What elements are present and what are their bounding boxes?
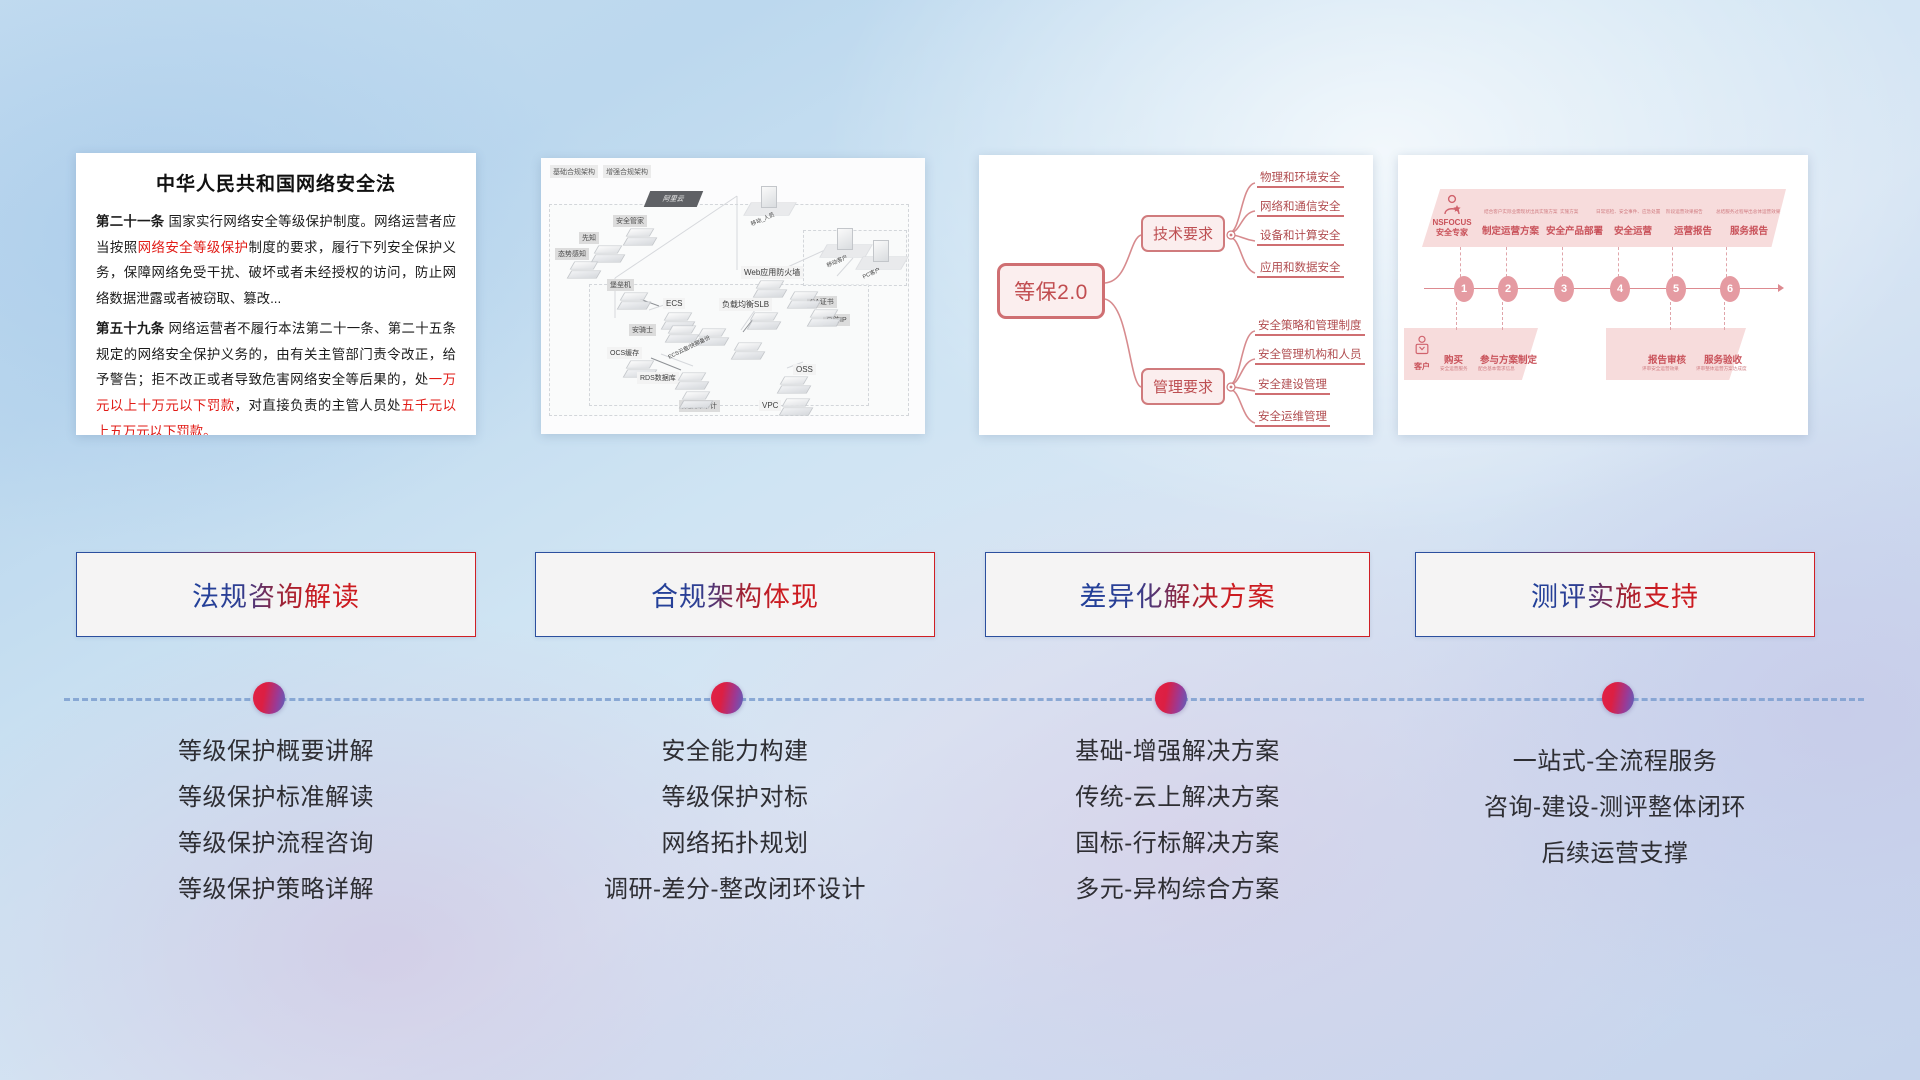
list-item: 国标-行标解决方案 [985,832,1370,856]
column-header-differentiated-solution[interactable]: 差异化解决方案 [985,552,1370,637]
list-item: 等级保护概要讲解 [76,740,476,764]
column-list-regulation-consulting: 等级保护概要讲解 等级保护标准解读 等级保护流程咨询 等级保护策略详解 [76,740,476,924]
column-header-title: 合规架构体现 [651,575,819,614]
list-item: 等级保护策略详解 [76,878,476,902]
column-header-assessment-support[interactable]: 测评实施支持 [1415,552,1815,637]
list-item: 后续运营支撑 [1415,842,1815,866]
list-item: 安全能力构建 [535,740,935,764]
column-header-regulation-consulting[interactable]: 法规咨询解读 [76,552,476,637]
timeline-dashed-line [64,698,1864,701]
list-item: 等级保护标准解读 [76,786,476,810]
timeline-marker-4[interactable] [1602,682,1634,714]
list-item: 等级保护对标 [535,786,935,810]
list-item: 一站式-全流程服务 [1415,750,1815,774]
timeline-marker-1[interactable] [253,682,285,714]
timeline-marker-2[interactable] [711,682,743,714]
list-item: 等级保护流程咨询 [76,832,476,856]
list-item: 咨询-建设-测评整体闭环 [1415,796,1815,820]
column-header-compliance-architecture[interactable]: 合规架构体现 [535,552,935,637]
list-item: 网络拓扑规划 [535,832,935,856]
column-header-title: 法规咨询解读 [192,575,360,614]
list-item: 传统-云上解决方案 [985,786,1370,810]
column-header-title: 测评实施支持 [1531,575,1699,614]
column-list-compliance-architecture: 安全能力构建 等级保护对标 网络拓扑规划 调研-差分-整改闭环设计 [535,740,935,924]
list-item: 多元-异构综合方案 [985,878,1370,902]
column-header-title: 差异化解决方案 [1080,575,1276,614]
list-item: 基础-增强解决方案 [985,740,1370,764]
column-list-assessment-support: 一站式-全流程服务 咨询-建设-测评整体闭环 后续运营支撑 [1415,740,1815,888]
timeline-marker-3[interactable] [1155,682,1187,714]
list-item: 调研-差分-整改闭环设计 [535,878,935,902]
column-list-differentiated-solution: 基础-增强解决方案 传统-云上解决方案 国标-行标解决方案 多元-异构综合方案 [985,740,1370,924]
